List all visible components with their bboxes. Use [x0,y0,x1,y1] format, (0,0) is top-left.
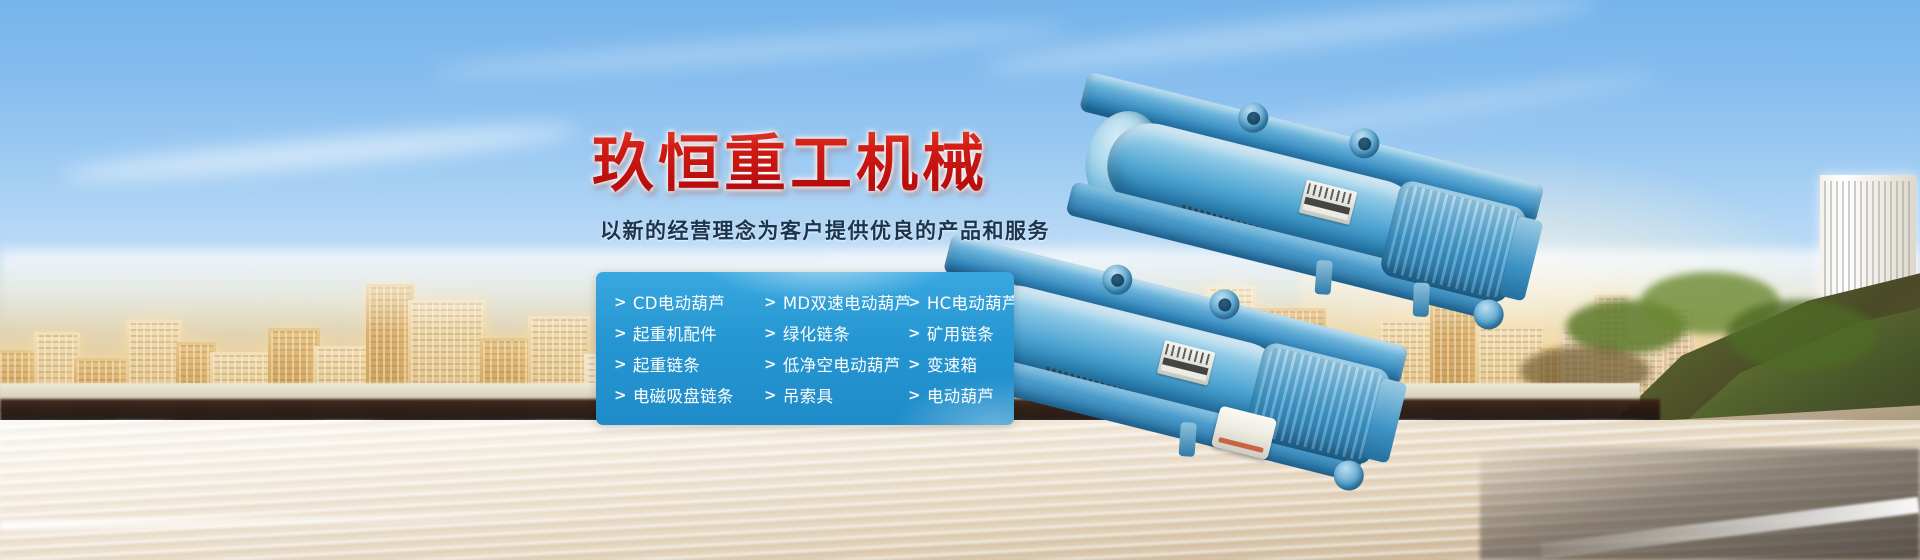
company-tagline: 以新的经营理念为客户提供优良的产品和服务 [600,216,1050,246]
product-link[interactable]: >变速箱 [890,348,1014,379]
chevron-right-icon: > [908,324,921,342]
chevron-right-icon: > [908,386,921,404]
product-link-label: 绿化链条 [783,321,850,345]
hero-banner: 玖恒重工机械 以新的经营理念为客户提供优良的产品和服务 >CD电动葫芦>MD双速… [0,0,1920,560]
chevron-right-icon: > [614,324,627,342]
product-link-label: 矿用链条 [927,321,994,345]
product-link[interactable]: >起重链条 [596,348,746,379]
product-link[interactable]: >HC电动葫芦 [890,286,1014,317]
product-link[interactable]: >矿用链条 [890,317,1014,348]
chevron-right-icon: > [764,324,777,342]
product-link[interactable]: >CD电动葫芦 [596,286,746,317]
product-link[interactable]: >MD双速电动葫芦 [746,286,890,317]
product-link-label: 低净空电动葫芦 [783,352,901,376]
chevron-right-icon: > [614,355,627,373]
product-link-label: 起重链条 [633,352,700,376]
product-link[interactable]: >电磁吸盘链条 [596,379,746,410]
chevron-right-icon: > [908,355,921,373]
product-links-grid: >CD电动葫芦>MD双速电动葫芦>HC电动葫芦>起重机配件>绿化链条>矿用链条>… [596,272,1014,425]
product-photo-hoists [1050,60,1850,490]
product-link-label: HC电动葫芦 [927,290,1014,314]
chevron-right-icon: > [614,386,627,404]
chevron-right-icon: > [614,293,627,311]
product-links-panel: >CD电动葫芦>MD双速电动葫芦>HC电动葫芦>起重机配件>绿化链条>矿用链条>… [596,272,1014,425]
chevron-right-icon: > [764,293,777,311]
product-link-label: 变速箱 [927,352,977,376]
product-link-label: CD电动葫芦 [633,290,725,314]
hoist-hook-fitting [1315,260,1333,295]
product-link[interactable]: >电动葫芦 [890,379,1014,410]
product-link[interactable]: >低净空电动葫芦 [746,348,890,379]
company-title: 玖恒重工机械 [592,126,988,202]
chevron-right-icon: > [764,355,777,373]
chevron-right-icon: > [908,293,921,311]
hoist-hook-fitting [1413,282,1430,317]
product-link-label: 起重机配件 [633,321,717,345]
product-link-label: 电动葫芦 [927,383,994,407]
product-link-label: 吊索具 [783,383,833,407]
hoist-hook-fitting [1179,422,1197,457]
product-link[interactable]: >绿化链条 [746,317,890,348]
product-link-label: 电磁吸盘链条 [633,383,734,407]
product-link[interactable]: >吊索具 [746,379,890,410]
product-link[interactable]: >起重机配件 [596,317,746,348]
chevron-right-icon: > [764,386,777,404]
